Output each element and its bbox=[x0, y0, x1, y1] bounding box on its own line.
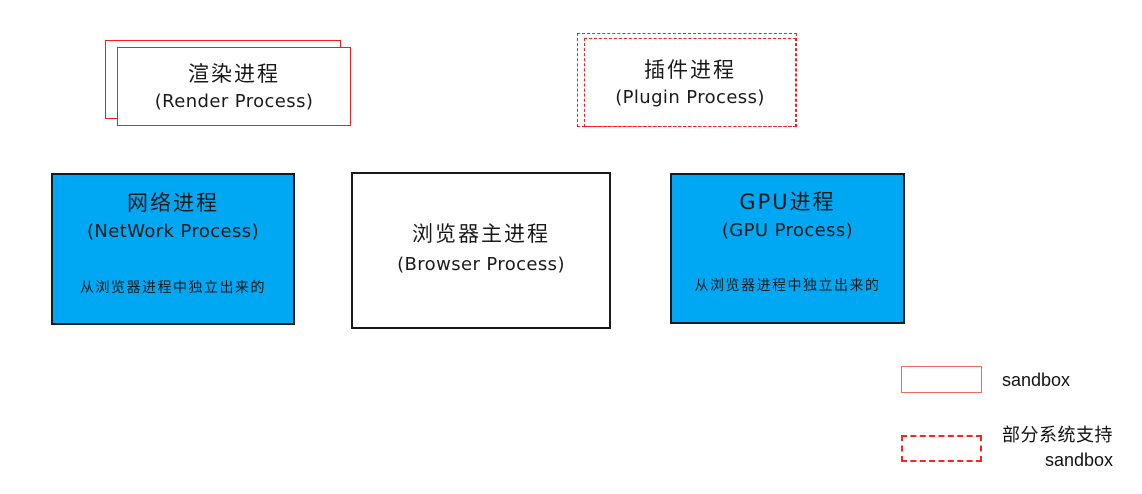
legend-label-sandbox: sandbox bbox=[1002, 368, 1070, 392]
legend-item-partial-sandbox: 部分系统支持 sandbox bbox=[901, 425, 1113, 473]
legend-item-sandbox: sandbox bbox=[901, 366, 1070, 393]
gpu-process-title: GPU进程 bbox=[739, 190, 835, 214]
legend-label-sandbox-text: sandbox bbox=[1002, 368, 1070, 392]
diagram-canvas: 渲染进程 (Render Process) 插件进程 (Plugin Proce… bbox=[0, 0, 1142, 494]
legend-label-partial-sandbox-cn: 部分系统支持 bbox=[1002, 424, 1113, 448]
node-network-process[interactable]: 网络进程 (NetWork Process) 从浏览器进程中独立出来的 bbox=[51, 173, 295, 325]
gpu-process-subtitle: (GPU Process) bbox=[722, 220, 853, 242]
gpu-process-note: 从浏览器进程中独立出来的 bbox=[695, 275, 881, 295]
node-plugin-process[interactable]: 插件进程 (Plugin Process) bbox=[584, 38, 796, 127]
legend-label-partial-sandbox: 部分系统支持 sandbox bbox=[1002, 424, 1113, 473]
browser-process-title: 浏览器主进程 bbox=[412, 222, 550, 246]
plugin-process-title: 插件进程 bbox=[644, 58, 736, 82]
node-render-process[interactable]: 渲染进程 (Render Process) bbox=[117, 47, 351, 126]
plugin-process-subtitle: (Plugin Process) bbox=[615, 87, 765, 109]
browser-process-subtitle: (Browser Process) bbox=[397, 254, 565, 276]
legend-swatch-dashed-red bbox=[901, 435, 982, 462]
node-gpu-process[interactable]: GPU进程 (GPU Process) 从浏览器进程中独立出来的 bbox=[670, 173, 905, 324]
network-process-title: 网络进程 bbox=[127, 191, 219, 215]
legend-label-partial-sandbox-en: sandbox bbox=[1002, 448, 1113, 472]
network-process-note: 从浏览器进程中独立出来的 bbox=[80, 277, 266, 297]
node-browser-process[interactable]: 浏览器主进程 (Browser Process) bbox=[351, 172, 611, 329]
legend-swatch-solid-red bbox=[901, 366, 982, 393]
render-process-subtitle: (Render Process) bbox=[155, 91, 314, 113]
network-process-subtitle: (NetWork Process) bbox=[87, 221, 259, 243]
render-process-title: 渲染进程 bbox=[188, 62, 280, 86]
